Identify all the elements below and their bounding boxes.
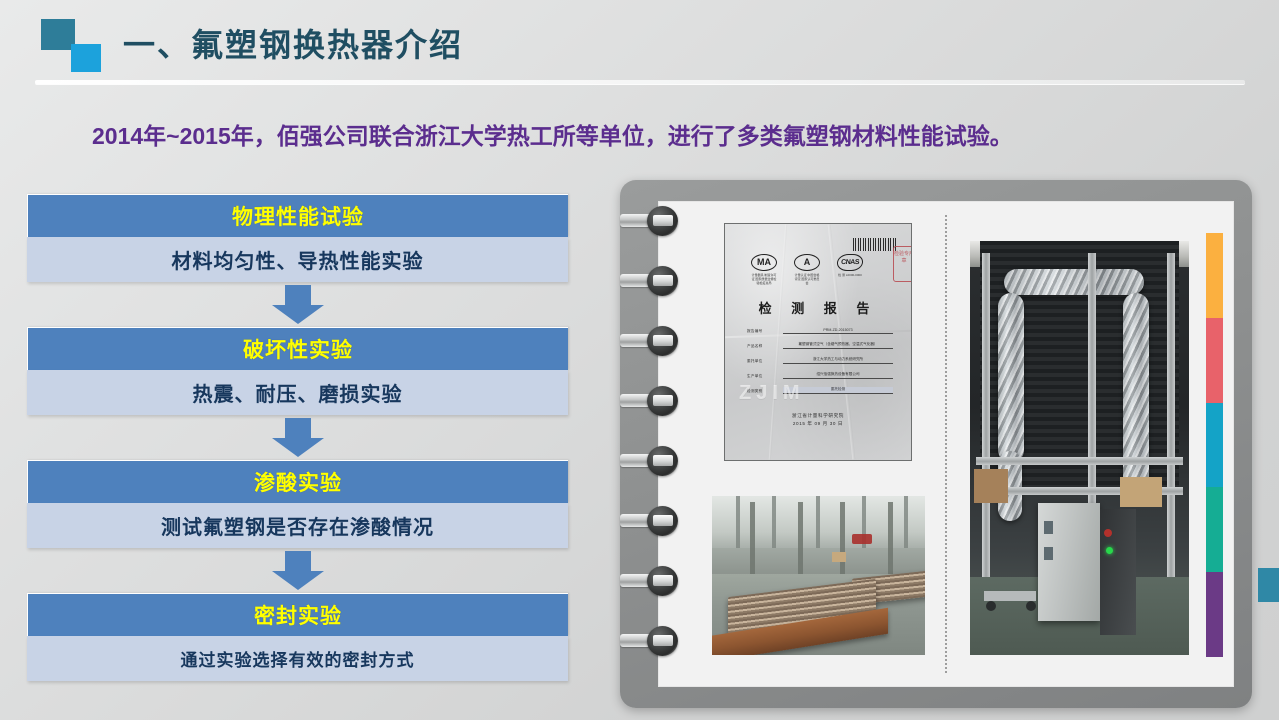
roof-beam (904, 496, 908, 548)
emergency-stop-button[interactable] (1104, 529, 1112, 537)
tab-orange[interactable] (1206, 233, 1223, 318)
flow-arrow-2-icon (259, 418, 337, 458)
flow-step-1-title: 物理性能试验 (232, 201, 364, 231)
insulated-duct-top (1004, 269, 1144, 295)
binding-ring-icon (620, 566, 678, 596)
notebook-photo-panel: 检验专用章 MA 计量器具 制造许可证 国家质量监督检验检疫总局 A 计量认证 … (620, 180, 1252, 708)
flow-step-1-header: 物理性能试验 (27, 194, 568, 237)
flow-step-4: 密封实验 通过实验选择有效的密封方式 (27, 593, 568, 681)
flow-arrow-2-wrap (27, 415, 568, 460)
report-field-row: 生产单位 绍兴佰强换热设备有限公司 (747, 372, 893, 379)
report-document: 检验专用章 MA 计量器具 制造许可证 国家质量监督检验检疫总局 A 计量认证 … (725, 224, 911, 460)
ma-mark-icon: MA 计量器具 制造许可证 国家质量监督检验检疫总局 (751, 254, 777, 286)
cma-mark-icon: A 计量认证 中国合格评定 国家认可委员会 (794, 254, 820, 286)
tab-purple[interactable] (1206, 572, 1223, 657)
flow-arrow-1-icon (259, 285, 337, 325)
flow-step-1: 物理性能试验 材料均匀性、导热性能实验 (27, 194, 568, 282)
ring-hook (653, 455, 673, 466)
factory-scene (712, 496, 925, 655)
red-forklift (852, 534, 872, 544)
caster-wheel (986, 601, 996, 611)
flow-arrow-3-wrap (27, 548, 568, 593)
cnas-mark-sub: 检 测 L0000-0000 (837, 273, 863, 277)
factory-tube-bundle-photo (710, 494, 927, 657)
flow-step-4-header: 密封实验 (27, 593, 568, 636)
ring-hook (653, 515, 673, 526)
ma-oval: MA (751, 254, 777, 271)
ring-hook (653, 275, 673, 286)
flow-step-3-title: 渗酸实验 (254, 467, 342, 497)
report-field-row: 委托单位 浙江大学热工与动力系统研究所 (747, 357, 893, 364)
barcode (853, 238, 897, 251)
alu-frame-horizontal (976, 457, 1183, 465)
binding-ring-icon (620, 386, 678, 416)
logo-square-bright (71, 44, 101, 72)
logo-square-dark (41, 19, 75, 50)
ring-hook (653, 635, 673, 646)
flow-arrow-3-icon (259, 551, 337, 591)
flow-step-1-desc: 材料均匀性、导热性能实验 (172, 245, 424, 274)
flow-step-2-body: 热震、耐压、磨损实验 (27, 370, 568, 415)
flow-arrow-1-wrap (27, 282, 568, 327)
binding-ring-icon (620, 326, 678, 356)
report-field-row: 报告编号 PRM-ZD-2015073 (747, 328, 893, 334)
ma-mark-sub: 计量器具 制造许可证 国家质量监督检验检疫总局 (751, 273, 777, 285)
insulated-duct-left (998, 293, 1024, 463)
flow-step-4-body: 通过实验选择有效的密封方式 (27, 636, 568, 681)
page-color-tabs (1206, 233, 1223, 657)
tab-cyan[interactable] (1206, 403, 1223, 488)
flow-step-1-body: 材料均匀性、导热性能实验 (27, 237, 568, 282)
test-report-photo: 检验专用章 MA 计量器具 制造许可证 国家质量监督检验检疫总局 A 计量认证 … (724, 223, 912, 461)
report-watermark: ZJIM (739, 382, 805, 405)
field-label: 生产单位 (747, 374, 777, 379)
gauge (1044, 521, 1053, 534)
flow-step-3-body: 测试氟塑钢是否存在渗酸情况 (27, 503, 568, 548)
corner-accent-tab (1258, 568, 1279, 602)
arrow-stem (285, 285, 311, 306)
binding-ring-icon (620, 626, 678, 656)
flow-step-4-desc: 通过实验选择有效的密封方式 (181, 646, 415, 671)
flow-step-2-title: 破坏性实验 (243, 334, 353, 364)
caster-wheel (1026, 601, 1036, 611)
ring-hook (653, 215, 673, 226)
binding-ring-icon (620, 506, 678, 536)
test-rig-scene (970, 241, 1189, 655)
field-label: 产品名称 (747, 344, 777, 349)
slide-subtitle: 2014年~2015年，佰强公司联合浙江大学热工所等单位，进行了多类氟塑钢材料性… (92, 117, 1013, 151)
certification-marks: MA 计量器具 制造许可证 国家质量监督检验检疫总局 A 计量认证 中国合格评定… (751, 254, 871, 286)
tab-teal[interactable] (1206, 487, 1223, 572)
header-logo (41, 19, 103, 71)
notebook-page: 检验专用章 MA 计量器具 制造许可证 国家质量监督检验检疫总局 A 计量认证 … (658, 201, 1234, 687)
field-value: 绍兴佰强换热设备有限公司 (783, 372, 893, 379)
flow-step-4-title: 密封实验 (254, 600, 342, 630)
field-value: PRM-ZD-2015073 (783, 328, 893, 334)
ring-hook (653, 575, 673, 586)
gauge (1044, 547, 1053, 560)
field-label: 报告编号 (747, 329, 777, 334)
flow-step-3-desc: 测试氟塑钢是否存在渗酸情况 (161, 511, 434, 540)
header-divider (35, 80, 1245, 84)
cma-oval: A (794, 254, 820, 271)
flow-step-2-header: 破坏性实验 (27, 327, 568, 370)
binding-ring-icon (620, 206, 678, 236)
flow-step-3-header: 渗酸实验 (27, 460, 568, 503)
cardboard-box (974, 469, 1008, 503)
tab-red[interactable] (1206, 318, 1223, 403)
inspection-stamp: 检验专用章 (893, 246, 912, 282)
field-value: 浙江大学热工与动力系统研究所 (783, 357, 893, 364)
cart-base (984, 591, 1036, 601)
page-dotted-divider (945, 215, 947, 673)
arrow-stem (285, 551, 311, 572)
issuer-name: 浙江省计量科学研究院 (725, 412, 911, 420)
experiment-flow-chart: 物理性能试验 材料均匀性、导热性能实验 破坏性实验 热震、耐压、磨损实验 渗酸实… (27, 194, 568, 681)
factory-column (840, 502, 845, 576)
field-label: 委托单位 (747, 359, 777, 364)
test-rig-photo (968, 239, 1191, 657)
factory-column (750, 502, 755, 576)
control-cabinet (1038, 503, 1100, 621)
cnas-oval: CNAS (836, 254, 864, 271)
status-led-icon (1106, 547, 1113, 554)
ring-hook (653, 395, 673, 406)
binding-ring-icon (620, 266, 678, 296)
roof-beam (736, 496, 740, 548)
factory-column (888, 502, 893, 576)
report-field-row: 产品名称 氟塑钢管式空气（含烟气预热器、空温式气化器） (747, 342, 893, 349)
page-title: 一、氟塑钢换热器介绍 (123, 20, 463, 66)
arrow-stem (285, 418, 311, 439)
flow-step-3: 渗酸实验 测试氟塑钢是否存在渗酸情况 (27, 460, 568, 548)
arrow-tip (272, 438, 324, 457)
flow-step-2: 破坏性实验 热震、耐压、磨损实验 (27, 327, 568, 415)
roof-beam (816, 496, 820, 548)
control-panel-dark (1100, 509, 1136, 635)
binding-ring-icon (620, 446, 678, 476)
arrow-tip (272, 571, 324, 590)
flow-step-2-desc: 热震、耐压、磨损实验 (193, 378, 403, 407)
cardboard-box (832, 552, 846, 562)
cnas-mark-icon: CNAS 检 测 L0000-0000 (837, 254, 863, 286)
factory-column (798, 502, 803, 576)
report-issuer: 浙江省计量科学研究院 2015 年 09 月 30 日 (725, 412, 911, 428)
issuer-date: 2015 年 09 月 30 日 (725, 420, 911, 428)
field-value: 氟塑钢管式空气（含烟气预热器、空温式气化器） (783, 342, 893, 349)
cma-mark-sub: 计量认证 中国合格评定 国家认可委员会 (794, 273, 820, 285)
roof-beam (772, 496, 776, 548)
report-title: 检 测 报 告 (725, 298, 911, 317)
cardboard-box (1120, 477, 1162, 507)
arrow-tip (272, 305, 324, 324)
ring-hook (653, 335, 673, 346)
spiral-binding (620, 206, 678, 676)
